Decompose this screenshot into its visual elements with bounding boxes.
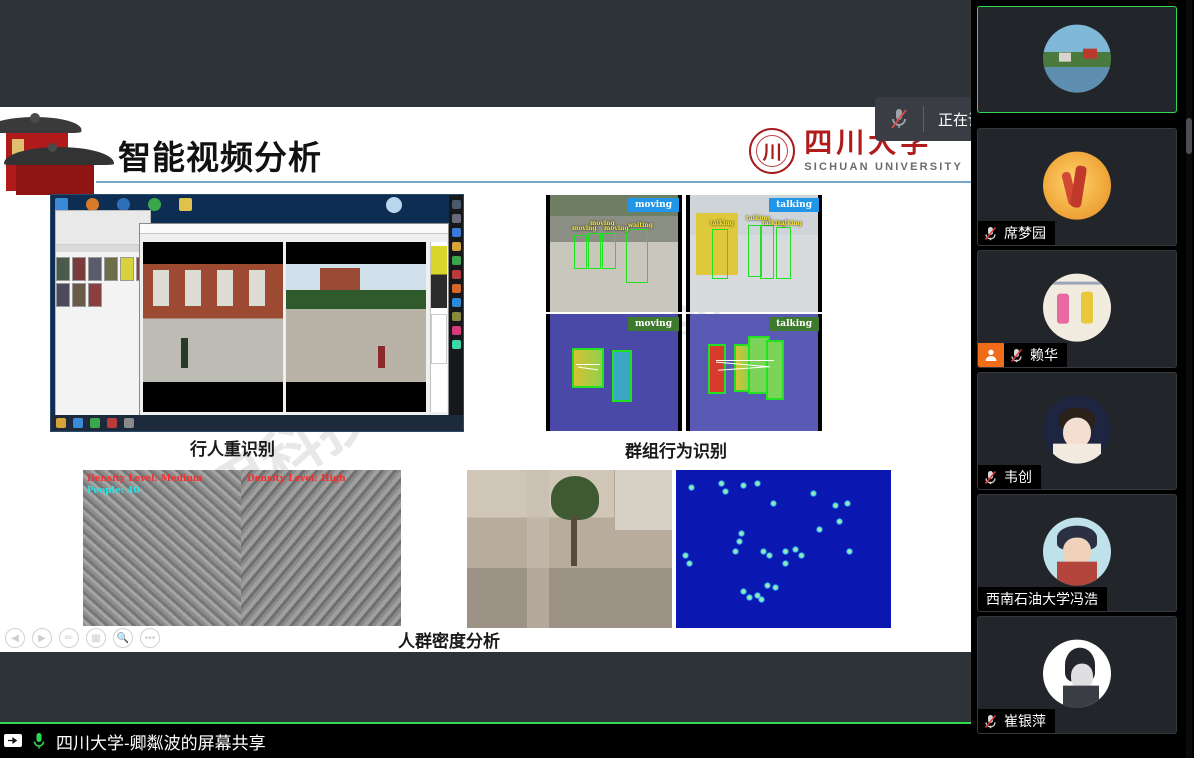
host-icon	[978, 343, 1004, 367]
avatar	[1043, 396, 1111, 464]
screen-share-icon	[0, 734, 26, 749]
name-tag: 西南石油大学冯浩	[978, 587, 1107, 611]
participant-name: 西南石油大学冯浩	[978, 589, 1107, 609]
pen-tool-button[interactable]: ✏	[59, 628, 79, 648]
query-person-image	[431, 246, 447, 308]
name-tag: 赖华	[978, 343, 1067, 367]
participant-tile[interactable]: 赖华	[977, 250, 1177, 368]
logo-en-name: SICHUAN UNIVERSITY	[804, 161, 963, 173]
next-slide-button[interactable]: ▶	[32, 628, 52, 648]
caption-person-reid: 行人重识别	[190, 435, 275, 460]
more-options-button[interactable]: •••	[140, 628, 160, 648]
caption-crowd-density: 人群密度分析	[398, 627, 500, 652]
video-analysis-window	[139, 223, 449, 419]
name-tag: 崔银萍	[978, 709, 1055, 733]
crowd-density-image-2: Density Level: High	[241, 470, 401, 626]
zoom-tool-button[interactable]: 🔍	[113, 628, 133, 648]
active-speaker-text: 正在讲话: 四川大学-卿粼波;	[924, 109, 971, 130]
previous-slide-button[interactable]: ◀	[5, 628, 25, 648]
box-label: waiting	[628, 222, 653, 229]
avatar	[1043, 24, 1111, 92]
title-underline	[96, 181, 971, 183]
screen-share-status-bar: 四川大学-卿粼波的屏幕共享	[0, 722, 971, 758]
people-count-label: People: 40	[87, 486, 140, 496]
avatar	[1043, 152, 1111, 220]
box-label: moving	[604, 225, 629, 232]
group-behavior-heatmap-1: moving	[546, 314, 682, 431]
name-tag: 席梦园	[978, 221, 1055, 245]
group-behavior-image-2: talking talking talking talking talking	[686, 195, 822, 312]
avatar	[1043, 640, 1111, 708]
participant-name: 赖华	[1028, 345, 1067, 365]
page-title: 智能视频分析	[118, 131, 322, 179]
participant-name: 崔银萍	[1002, 711, 1055, 731]
seal-icon: 川	[749, 128, 795, 174]
participant-name: 席梦园	[1002, 223, 1055, 243]
participant-name: 韦创	[1002, 467, 1041, 487]
windows-taskbar-bottom	[51, 415, 463, 431]
spreadsheet-window	[55, 210, 151, 418]
participant-tile[interactable]: 崔银萍	[977, 616, 1177, 734]
shared-screen-region[interactable]: 智能视频分析 川 四川大学 SICHUAN UNIVERSITY 用科技 189…	[0, 0, 971, 758]
conference-screen: 智能视频分析 川 四川大学 SICHUAN UNIVERSITY 用科技 189…	[0, 0, 1194, 758]
rail-scrollbar-thumb[interactable]	[1186, 118, 1192, 154]
group-behavior-heatmap-2: talking	[686, 314, 822, 431]
rail-scrollbar-track[interactable]	[1186, 0, 1192, 758]
density-overlay-label: Density Level: High	[247, 474, 346, 484]
behavior-tag: talking	[769, 198, 819, 212]
mic-muted-icon	[875, 107, 923, 131]
person-thumbnail-gallery	[56, 257, 150, 307]
figure-person-reid	[50, 194, 464, 432]
presenter-toolbar[interactable]: ◀ ▶ ✏ ▦ 🔍 •••	[5, 628, 160, 648]
letterbox-top	[0, 0, 971, 107]
participant-tile[interactable]: 韦创	[977, 372, 1177, 490]
density-heatmap-image	[676, 470, 891, 628]
box-label: talking	[778, 220, 802, 227]
behavior-tag: talking	[769, 317, 819, 331]
box-label: talking	[710, 220, 734, 227]
behavior-tag: moving	[628, 317, 679, 331]
participant-tile[interactable]: 席梦园	[977, 128, 1177, 246]
mic-muted-icon	[1004, 348, 1028, 363]
presentation-slide[interactable]: 智能视频分析 川 四川大学 SICHUAN UNIVERSITY 用科技 189…	[0, 107, 971, 652]
participant-tile[interactable]: 西南石油大学冯浩	[977, 494, 1177, 612]
video-panel-right	[286, 242, 426, 412]
all-slides-button[interactable]: ▦	[86, 628, 106, 648]
pagoda-decoration-icon	[0, 113, 120, 191]
result-list	[431, 314, 447, 364]
windows-taskbar-right	[449, 195, 463, 432]
video-panel-left	[143, 242, 283, 412]
crowd-density-image-1: Density Level: Medium People: 40	[83, 470, 241, 626]
active-speaker-toast: 正在讲话: 四川大学-卿粼波; ↩	[875, 97, 971, 141]
mic-muted-icon	[978, 470, 1002, 485]
group-behavior-image-1: moving moving moving waiting moving	[546, 195, 682, 312]
share-status-text: 四川大学-卿粼波的屏幕共享	[52, 729, 266, 754]
avatar	[1043, 518, 1111, 586]
density-overlay-label: Density Level: Medium	[87, 474, 202, 484]
name-tag: 韦创	[978, 465, 1041, 489]
mic-muted-icon	[978, 714, 1002, 729]
caption-group-behavior: 群组行为识别	[625, 437, 727, 462]
participant-rail[interactable]: 席梦园 赖华 韦创	[971, 0, 1194, 758]
microphone-icon	[26, 732, 52, 750]
behavior-tag: moving	[628, 198, 679, 212]
participant-tile[interactable]	[977, 6, 1177, 113]
mic-muted-icon	[978, 226, 1002, 241]
avatar	[1043, 274, 1111, 342]
mall-scene-image	[467, 470, 672, 628]
